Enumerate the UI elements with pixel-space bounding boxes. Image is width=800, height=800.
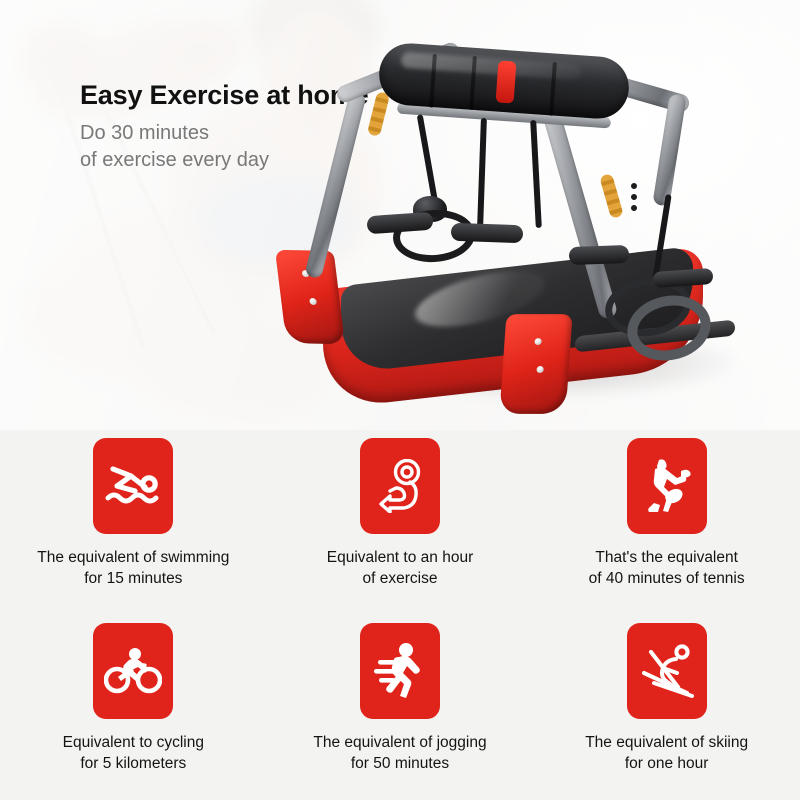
benefit-item-tennis: That's the equivalent of 40 minutes of t… <box>533 430 800 615</box>
benefit-item-skiing: The equivalent of skiing for one hour <box>533 615 800 800</box>
foam-handle <box>569 245 630 265</box>
cycling-icon <box>104 647 162 695</box>
benefits-grid: The equivalent of swimming for 15 minute… <box>0 430 800 800</box>
water-waves <box>108 495 156 501</box>
swimming-icon <box>105 463 161 509</box>
tennis-icon <box>641 457 693 515</box>
benefit-tile <box>627 623 707 719</box>
benefit-caption: That's the equivalent of 40 minutes of t… <box>589 547 745 589</box>
jogging-icon <box>373 642 427 700</box>
benefit-tile <box>360 438 440 534</box>
skiing-icon <box>638 643 696 699</box>
grip-pad-right <box>599 173 624 219</box>
benefit-tile <box>93 623 173 719</box>
benefit-caption: The equivalent of jogging for 50 minutes <box>313 732 486 774</box>
benefit-item-exercise: Equivalent to an hour of exercise <box>267 430 534 615</box>
benefit-item-swimming: The equivalent of swimming for 15 minute… <box>0 430 267 615</box>
product-image-ab-machine <box>275 28 785 428</box>
product-infographic-page: Easy Exercise at home Do 30 minutes of e… <box>0 0 800 800</box>
page-subtitle: Do 30 minutes of exercise every day <box>80 120 269 174</box>
dumbbell-arm-icon <box>376 459 424 513</box>
roller-red-band <box>496 60 517 103</box>
frame-arm-left <box>304 91 366 279</box>
benefit-item-cycling: Equivalent to cycling for 5 kilometers <box>0 615 267 800</box>
benefit-item-jogging: The equivalent of jogging for 50 minutes <box>267 615 534 800</box>
resistance-cord <box>530 120 542 228</box>
benefit-caption: The equivalent of swimming for 15 minute… <box>37 547 229 589</box>
benefit-caption: The equivalent of skiing for one hour <box>585 732 748 774</box>
resistance-cord <box>477 118 487 228</box>
adjustment-holes <box>631 178 639 228</box>
hero-section: Easy Exercise at home Do 30 minutes of e… <box>0 0 800 430</box>
benefit-tile <box>93 438 173 534</box>
foam-handle <box>451 223 524 244</box>
bracket-front <box>499 314 572 414</box>
grip-pad-left <box>367 91 390 137</box>
benefit-tile <box>627 438 707 534</box>
foam-handle <box>653 268 714 288</box>
frame-arm-right-outer <box>652 93 686 206</box>
benefit-tile <box>360 623 440 719</box>
benefit-caption: Equivalent to cycling for 5 kilometers <box>63 732 204 774</box>
benefit-caption: Equivalent to an hour of exercise <box>327 547 474 589</box>
